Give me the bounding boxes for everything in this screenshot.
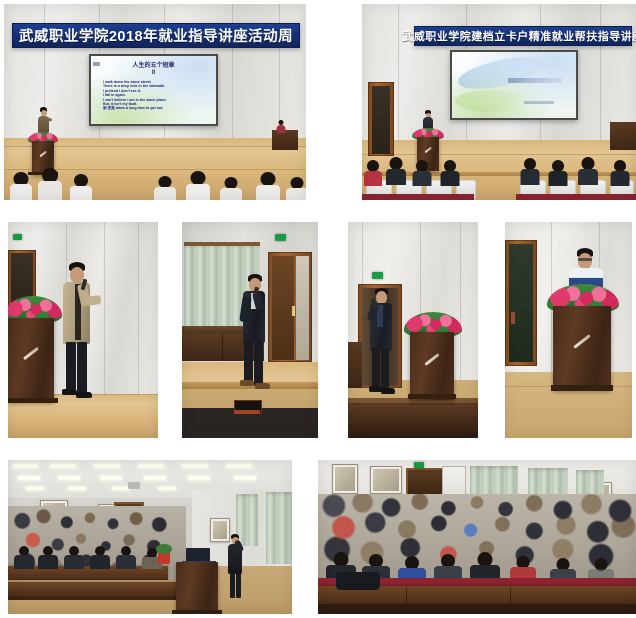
glasses-icon [578, 258, 592, 261]
exit-sign-icon [372, 272, 383, 279]
audience-head [286, 174, 306, 200]
ceiling-light [188, 476, 210, 480]
torso [256, 185, 280, 200]
audience-head [186, 170, 210, 200]
audience-head [520, 158, 539, 185]
torso [412, 171, 431, 186]
event-banner: 武威职业学院建档立卡户精准就业帮扶指导讲座 [414, 26, 632, 46]
slide-text-line [508, 78, 562, 83]
projector-screen [450, 50, 578, 120]
leg [372, 348, 380, 388]
front-student [38, 546, 58, 568]
projector-screen: 人生的五个短章 II I walk down the same street. … [89, 54, 218, 126]
podium-base [172, 610, 222, 614]
speaker-scene-podium [505, 222, 632, 438]
wall-seam [398, 4, 399, 159]
audience-head [38, 168, 62, 200]
head [191, 171, 206, 185]
torso [364, 171, 382, 186]
curtain-rail [184, 242, 260, 246]
stage-front [348, 398, 478, 438]
speaker-figure [56, 262, 102, 400]
leg [254, 340, 263, 386]
front-student [64, 546, 84, 568]
podium-emblem [39, 151, 46, 157]
shoe [62, 389, 77, 395]
torso [548, 171, 567, 186]
torso [116, 555, 136, 569]
ceiling-light [68, 487, 86, 490]
bag-on-desk [336, 572, 380, 590]
podium-emblem [573, 334, 591, 349]
photo-top-right[interactable]: 武威职业学院建档立卡户精准就业帮扶指导讲座 [362, 4, 636, 200]
slide-decor [93, 62, 100, 66]
ceiling-light [58, 476, 80, 480]
leg [381, 348, 389, 390]
desk-divider [510, 588, 511, 604]
floor-box-base [234, 410, 260, 414]
torso [10, 184, 32, 200]
torso [386, 169, 406, 185]
ceiling-light [100, 476, 122, 480]
torso [286, 188, 306, 200]
photo-collage-page: 武威职业学院2018年就业指导讲座活动周 人生的五个短章 II I walk d… [0, 0, 636, 618]
slide-text-line [524, 101, 554, 104]
torso [14, 555, 34, 569]
photo-bottom-right[interactable] [318, 460, 636, 614]
slide-swoosh [455, 90, 525, 112]
torso [220, 188, 242, 200]
audience-head [364, 160, 382, 186]
audience-head [70, 172, 92, 200]
audience-head [548, 160, 567, 186]
ceiling-light [50, 464, 76, 468]
door-handle [511, 312, 515, 324]
ceiling-light [94, 464, 120, 468]
head [261, 172, 276, 186]
presenter-podium [176, 562, 218, 612]
wall-seam [138, 222, 139, 400]
presenter-figure [226, 534, 244, 600]
exit-sign-icon [275, 234, 286, 241]
podium-base [8, 398, 58, 403]
exit-sign-icon [13, 234, 22, 240]
audience-head [412, 160, 431, 186]
podium [410, 332, 454, 400]
projector [128, 482, 140, 489]
torso [578, 169, 598, 185]
podium-base [408, 394, 456, 399]
side-cabinet [348, 342, 362, 388]
torso [440, 171, 459, 186]
potted-plant [156, 544, 172, 554]
chair-row-base [516, 194, 636, 200]
leg [66, 342, 76, 392]
torso [154, 187, 176, 200]
audience-head [154, 173, 176, 200]
audience-foreground [4, 166, 306, 200]
speaker-figure [367, 288, 397, 394]
torso [186, 184, 210, 200]
leg [77, 342, 87, 394]
desk-row [8, 582, 184, 596]
torso [38, 555, 58, 569]
laptop [186, 548, 210, 562]
audience-foreground [362, 152, 636, 200]
audience-head [578, 157, 598, 185]
audience-head [386, 157, 406, 185]
podium-emblem [23, 347, 39, 360]
audience-block-left [362, 152, 474, 200]
audience-head [220, 174, 242, 200]
wall-seam [104, 222, 105, 400]
front-student [14, 546, 34, 568]
desk-shadow [318, 604, 636, 614]
exit-sign-icon [414, 462, 424, 468]
window-curtain [266, 492, 292, 564]
ceiling-light [18, 476, 40, 480]
cabinet-divider [222, 333, 223, 361]
torso [520, 169, 539, 185]
door-panel [372, 86, 390, 154]
slide-body: I walk down the same street. There is a … [103, 80, 210, 111]
podium [8, 318, 54, 402]
audience-head [10, 170, 32, 200]
wall-seam [460, 222, 461, 398]
head [578, 253, 592, 269]
podium-base [551, 385, 613, 391]
audience-head [256, 171, 280, 200]
ceiling-light [144, 476, 166, 480]
door-panel [272, 256, 294, 360]
torso [90, 555, 110, 569]
photo-middle-3[interactable] [348, 222, 478, 438]
wall-picture [332, 464, 358, 494]
podium-emblem [424, 353, 439, 366]
audience-close-view [318, 460, 636, 614]
leg [244, 340, 253, 384]
shoe [381, 388, 395, 394]
desk-shadow [8, 596, 184, 600]
torso [610, 171, 629, 186]
photo-middle-2[interactable] [182, 222, 318, 438]
shoe [255, 383, 270, 389]
front-student [116, 546, 136, 568]
desk-divider [406, 588, 407, 604]
photo-top-left[interactable]: 武威职业学院2018年就业指导讲座活动周 人生的五个短章 II I walk d… [4, 4, 306, 200]
side-table [272, 130, 298, 150]
ceiling-light [226, 464, 252, 468]
leg [230, 573, 235, 598]
auditorium-scene-2: 武威职业学院建档立卡户精准就业帮扶指导讲座 [362, 4, 636, 200]
slide-title: 人生的五个短章 [91, 60, 216, 69]
torso [70, 186, 92, 200]
speaker-scene-doorway [348, 222, 478, 438]
ceiling-light [26, 487, 44, 490]
photo-middle-4[interactable] [505, 222, 632, 438]
torso [38, 181, 62, 200]
torso [277, 125, 286, 133]
shoe [76, 392, 92, 398]
speaker-scene-suit-curtains [182, 222, 318, 438]
front-student [90, 546, 110, 568]
speaker-figure [238, 274, 272, 390]
ceiling-light [12, 464, 38, 468]
photo-bottom-left[interactable] [8, 460, 292, 614]
side-cabinet [610, 122, 636, 150]
door-panel [509, 244, 533, 362]
door-handle [292, 306, 295, 316]
ceiling-light [234, 476, 256, 480]
ceiling-light [158, 487, 176, 490]
leg [236, 573, 241, 598]
ceiling-light [138, 464, 164, 468]
ceiling-light [182, 464, 208, 468]
auditorium-scene-1: 武威职业学院2018年就业指导讲座活动周 人生的五个短章 II I walk d… [4, 4, 306, 200]
chair-row-base [362, 194, 474, 200]
lecture-hall-wide-view [8, 460, 292, 614]
audience-head [440, 160, 459, 186]
seated-person [276, 120, 286, 132]
event-banner: 武威职业学院2018年就业指导讲座活动周 [12, 23, 300, 48]
torso [64, 555, 84, 569]
arm-extended [84, 295, 101, 306]
shoe [240, 380, 254, 386]
door-side-panel [296, 256, 309, 360]
speaker-scene-tan-coat [8, 222, 158, 438]
photo-middle-1[interactable] [8, 222, 158, 438]
slide-chapter: II [91, 70, 216, 76]
audience-block-right [516, 152, 636, 200]
podium [553, 306, 611, 390]
window-curtain [576, 470, 604, 494]
audience-head [610, 160, 629, 186]
wall-picture [370, 466, 402, 494]
